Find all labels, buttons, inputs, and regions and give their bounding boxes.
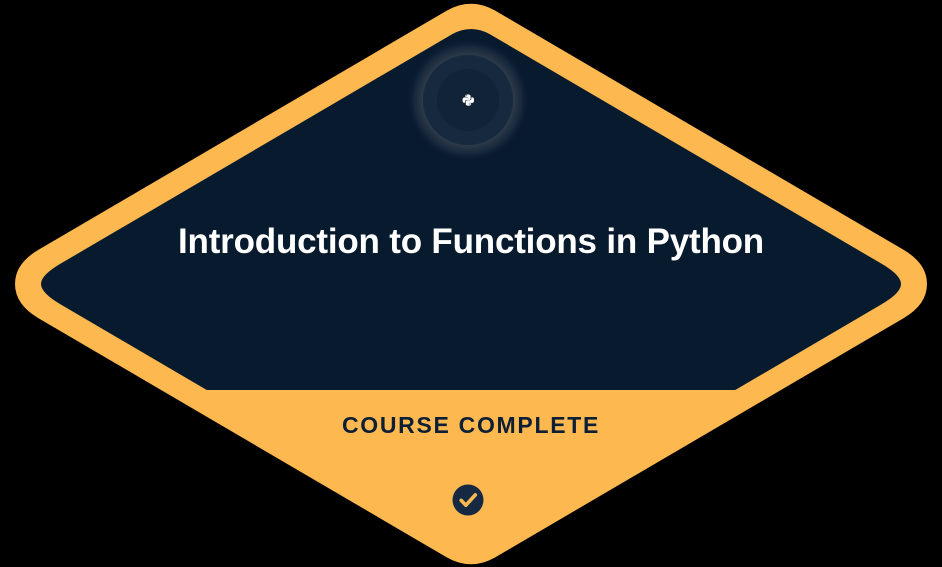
badge-graphic xyxy=(0,0,942,567)
logo-glow-ring xyxy=(406,38,530,162)
course-completion-badge: Introduction to Functions in Python COUR… xyxy=(0,0,942,567)
check-circle-icon xyxy=(453,485,484,516)
